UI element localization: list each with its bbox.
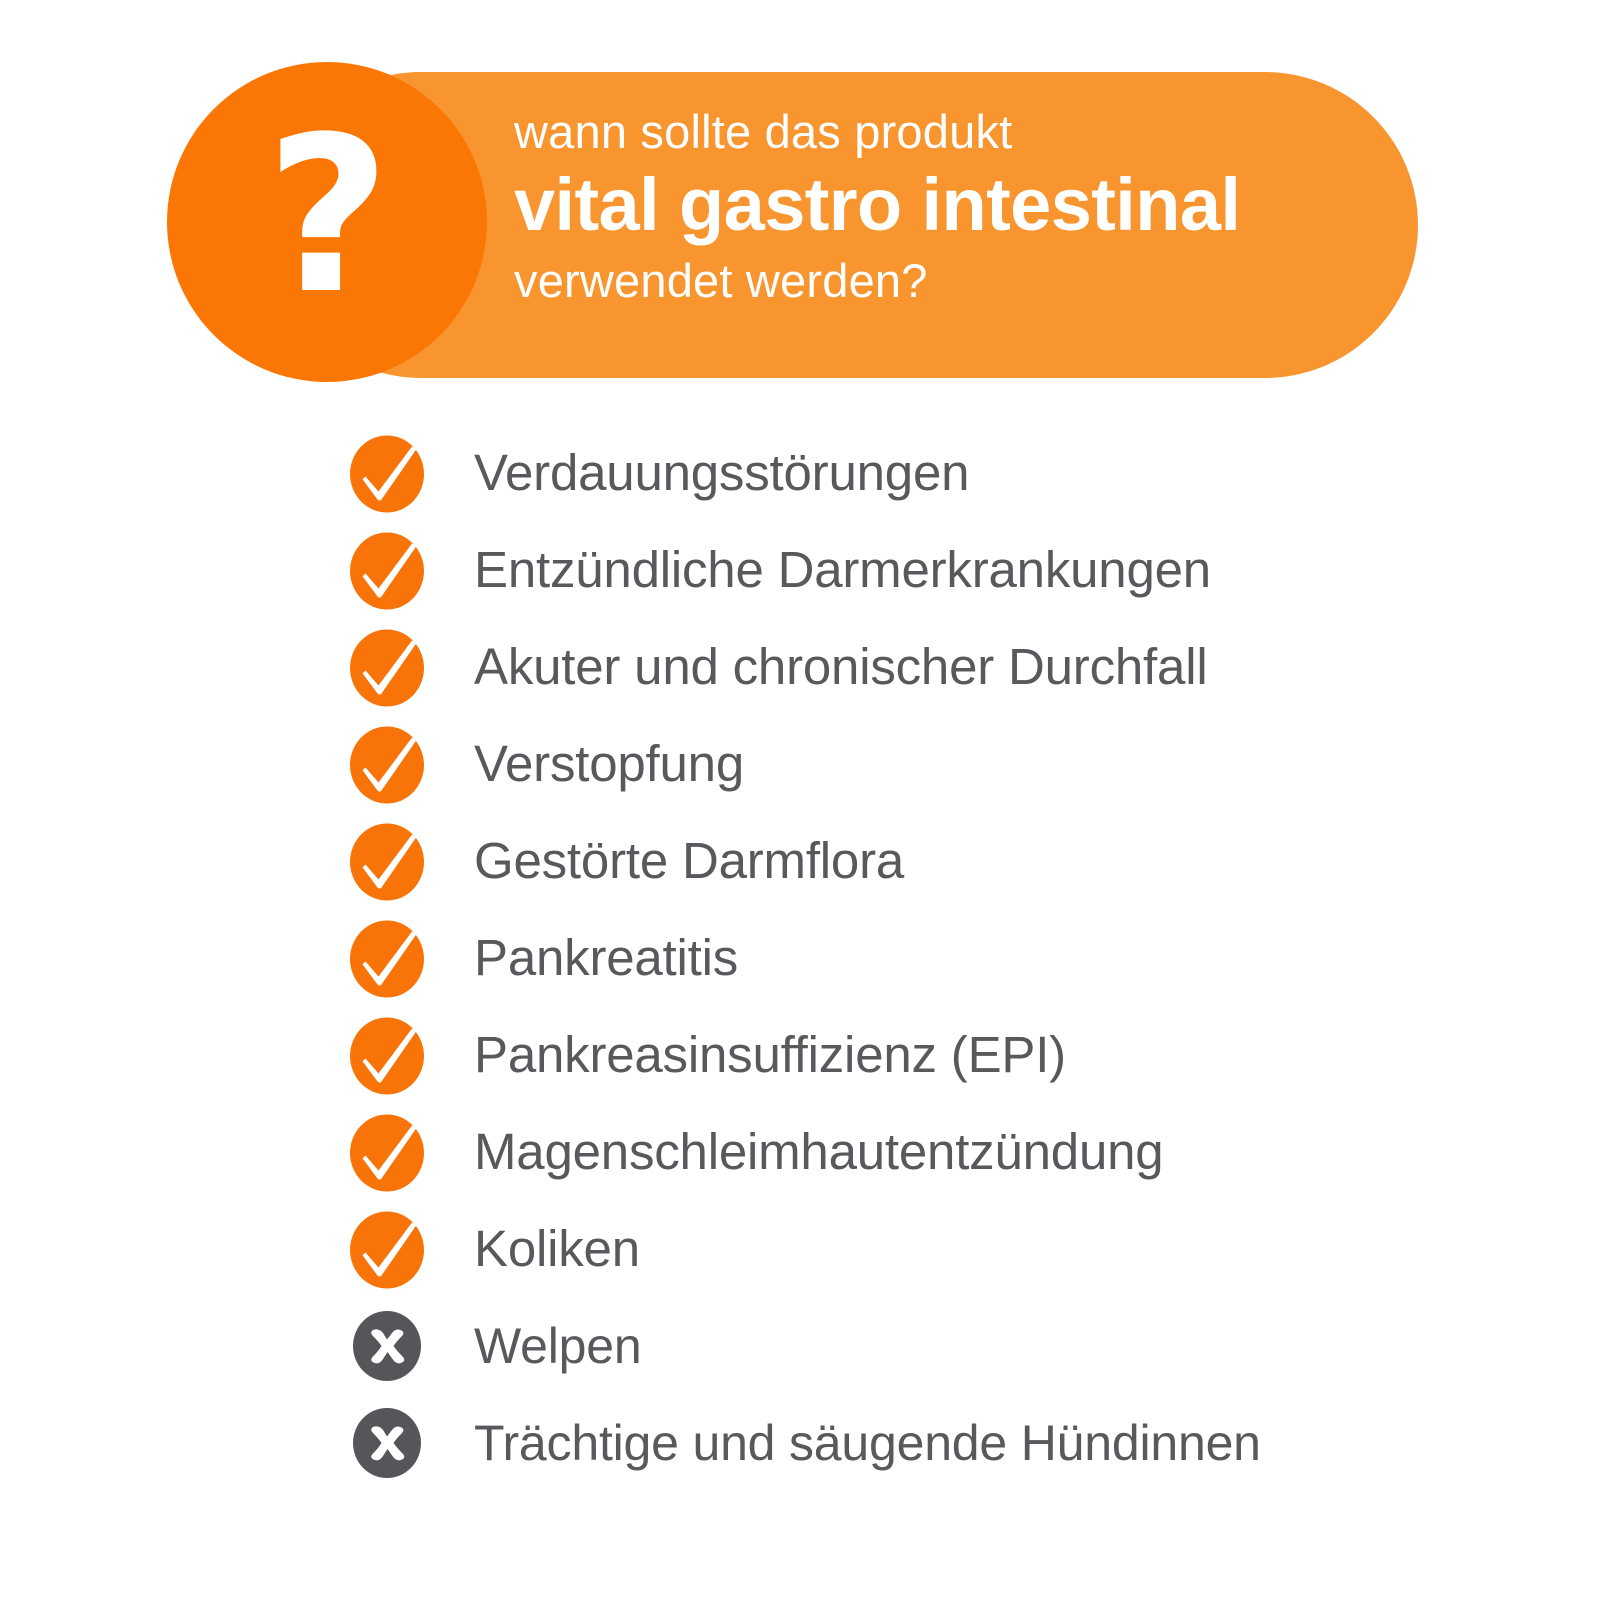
list-item: Verdauungsstörungen (0, 424, 1600, 521)
check-icon (348, 1113, 426, 1191)
list-item-label: Trächtige und säugende Hündinnen (474, 1418, 1261, 1468)
list-item-label: Entzündliche Darmerkrankungen (474, 544, 1211, 595)
list-item-label: Pankreatitis (474, 932, 738, 983)
list-item: Welpen (0, 1297, 1600, 1394)
list-item: Pankreasinsuffizienz (EPI) (0, 1006, 1600, 1103)
list-item: Akuter und chronischer Durchfall (0, 618, 1600, 715)
list-item-label: Magenschleimhautentzündung (474, 1126, 1163, 1177)
check-icon (348, 1210, 426, 1288)
list-item: Pankreatitis (0, 909, 1600, 1006)
cross-icon (348, 1307, 426, 1385)
check-icon (348, 628, 426, 706)
list-item: Verstopfung (0, 715, 1600, 812)
list-item-label: Koliken (474, 1223, 640, 1274)
header-subtitle-bottom: verwendet werden? (514, 253, 1394, 308)
check-icon (348, 822, 426, 900)
list-item: Trächtige und säugende Hündinnen (0, 1394, 1600, 1491)
indications-list: Verdauungsstörungen Entzündliche Darmerk… (0, 424, 1600, 1491)
product-title: vital gastro intestinal (514, 161, 1394, 248)
list-item: Gestörte Darmflora (0, 812, 1600, 909)
cross-icon (348, 1404, 426, 1482)
header-subtitle-top: wann sollte das produkt (514, 104, 1394, 159)
list-item-label: Akuter und chronischer Durchfall (474, 641, 1207, 692)
check-icon (348, 1016, 426, 1094)
header-text-block: wann sollte das produkt vital gastro int… (514, 104, 1394, 308)
list-item: Entzündliche Darmerkrankungen (0, 521, 1600, 618)
header-banner: ? wann sollte das produkt vital gastro i… (0, 0, 1600, 400)
list-item-label: Verstopfung (474, 738, 744, 789)
question-mark-icon: ? (167, 62, 487, 382)
list-item-label: Pankreasinsuffizienz (EPI) (474, 1029, 1066, 1080)
check-icon (348, 434, 426, 512)
check-icon (348, 531, 426, 609)
list-item-label: Verdauungsstörungen (474, 447, 969, 498)
list-item-label: Gestörte Darmflora (474, 835, 904, 886)
check-icon (348, 919, 426, 997)
list-item-label: Welpen (474, 1321, 641, 1371)
list-item: Magenschleimhautentzündung (0, 1103, 1600, 1200)
list-item: Koliken (0, 1200, 1600, 1297)
check-icon (348, 725, 426, 803)
